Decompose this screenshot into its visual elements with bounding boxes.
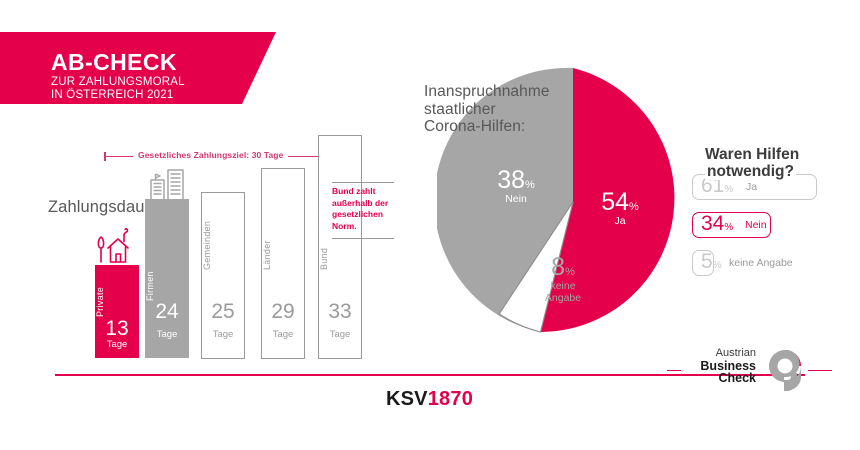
infographic-canvas: AB-CHECK ZUR ZAHLUNGSMORAL IN ÖSTERREICH… — [0, 0, 860, 450]
pie-label-nein: 38% Nein — [486, 168, 546, 205]
bar-private-category: Private — [95, 275, 139, 317]
bund-annotation-rule-top — [332, 182, 394, 183]
bar-private-unit: Tage — [95, 339, 139, 350]
pie-sublabel-keine-angabe-2: Angabe — [534, 292, 592, 304]
right-bar-ja-pct: % — [724, 184, 733, 195]
bar-firmen[interactable]: Firmen 24 Tage — [145, 199, 189, 358]
pie-sublabel-nein: Nein — [486, 193, 546, 205]
pie-sublabel-keine-angabe-1: keine — [534, 280, 592, 292]
right-bar-keine-angabe-value: 5 — [701, 250, 713, 273]
pie-pct-nein: % — [525, 179, 535, 191]
right-bar-keine-angabe-label: keine Angabe — [729, 257, 793, 269]
bar-bund[interactable]: Bund 33 Tage — [318, 135, 362, 359]
page-subtitle-line1: ZUR ZAHLUNGSMORAL — [51, 76, 185, 88]
bar-laender[interactable]: Länder 29 Tage — [261, 168, 305, 359]
right-bar-keine-angabe-pct: % — [713, 260, 722, 271]
bar-gemeinden-unit: Tage — [202, 329, 244, 340]
pie-chart-title: Inanspruchnahme staatlicher Corona-Hilfe… — [424, 83, 550, 136]
bar-bund-category: Bund — [319, 234, 361, 270]
right-bar-keine-angabe[interactable]: 5% keine Angabe — [692, 250, 714, 276]
ksv-logo[interactable]: KSV1870 — [386, 388, 473, 411]
bar-bund-value: 33 — [319, 302, 361, 322]
bar-laender-category: Länder — [262, 228, 304, 270]
pie-value-keine-angabe: 8 — [551, 253, 565, 281]
right-bar-nein-pct: % — [724, 222, 733, 233]
abc-nine-mark-icon — [762, 347, 808, 393]
page-title: AB-CHECK — [51, 49, 177, 76]
bar-firmen-category: Firmen — [145, 259, 189, 301]
bar-private[interactable]: Private 13 Tage — [95, 265, 139, 358]
legal-target-cap-left — [104, 152, 106, 161]
pie-title-line3: Corona-Hilfen: — [424, 118, 525, 135]
bar-gemeinden-category: Gemeinden — [202, 214, 244, 270]
bar-laender-value: 29 — [262, 302, 304, 322]
bar-firmen-value: 24 — [145, 302, 189, 322]
right-panel-title: Waren Hilfen notwendig? — [705, 146, 799, 180]
bar-gemeinden-value: 25 — [202, 302, 244, 322]
page-subtitle-line2: IN ÖSTERREICH 2021 — [51, 89, 173, 101]
right-bar-keine-angabe-value-group: 5% — [701, 252, 722, 273]
pie-title-line1: Inanspruchnahme — [424, 83, 550, 100]
right-bar-nein-value-group: 34% — [701, 214, 733, 235]
right-panel-title-line2: notwendig? — [705, 163, 796, 180]
bund-annotation-rule-bottom — [332, 238, 394, 239]
right-bar-nein-value: 34 — [701, 212, 724, 235]
abc-logo-line1: Austrian — [700, 347, 756, 360]
abc-logo-text: Austrian Business Check — [700, 347, 756, 385]
bar-bund-unit: Tage — [319, 329, 361, 340]
bund-annotation: Bund zahlt außerhalb der gesetzlichen No… — [332, 186, 394, 232]
bar-laender-unit: Tage — [262, 329, 304, 340]
pie-label-ja: 54% Ja — [590, 190, 650, 227]
pie-sublabel-ja: Ja — [590, 215, 650, 227]
office-buildings-icon — [147, 166, 189, 200]
bar-firmen-unit: Tage — [145, 329, 189, 340]
ksv-logo-year: 1870 — [428, 388, 473, 410]
pie-pct-ja: % — [629, 201, 639, 213]
abc-logo-line3: Check — [700, 372, 756, 385]
pie-value-nein: 38 — [497, 166, 525, 194]
legal-target-label: Gesetzliches Zahlungsziel: 30 Tage — [133, 150, 288, 160]
right-bar-nein-label: Nein — [745, 219, 767, 231]
ksv-logo-text: KSV — [386, 388, 428, 410]
pie-value-ja: 54 — [601, 188, 629, 216]
austrian-business-check-logo[interactable]: Austrian Business Check — [683, 347, 808, 393]
right-bar-ja-label: Ja — [746, 181, 757, 193]
right-bar-nein[interactable]: 34% Nein — [692, 212, 771, 238]
house-tree-icon — [96, 228, 138, 264]
pie-pct-keine-angabe: % — [565, 266, 575, 278]
bar-private-value: 13 — [95, 319, 139, 339]
abc-logo-rule-left — [667, 370, 681, 371]
pie-title-line2: staatlicher — [424, 101, 496, 118]
bar-gemeinden[interactable]: Gemeinden 25 Tage — [201, 192, 245, 359]
right-panel-title-line1: Waren Hilfen — [705, 146, 799, 163]
abc-logo-rule-right — [808, 370, 832, 371]
pie-label-keine-angabe: 8% keine Angabe — [534, 255, 592, 304]
